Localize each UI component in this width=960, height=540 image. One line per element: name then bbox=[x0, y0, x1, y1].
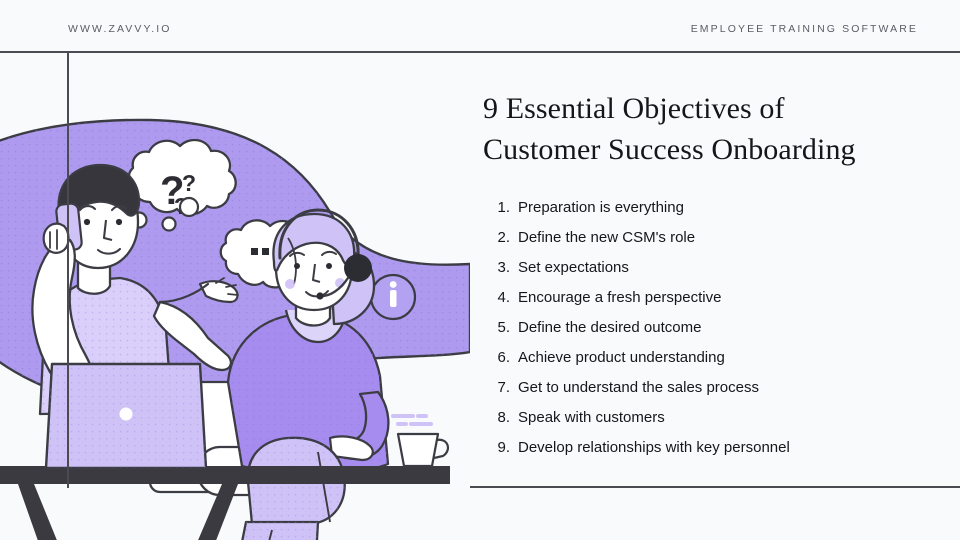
site-url-label: WWW.ZAVVY.IO bbox=[68, 23, 172, 35]
content-column: 9 Essential Objectives of Customer Succe… bbox=[483, 88, 943, 463]
objective-item: 8.Speak with customers bbox=[483, 403, 943, 433]
objective-item: 5.Define the desired outcome bbox=[483, 313, 943, 343]
objective-label: Achieve product understanding bbox=[518, 343, 725, 373]
page-title-line-1: 9 Essential Objectives of bbox=[483, 88, 943, 129]
objective-number: 1. bbox=[483, 193, 510, 223]
objective-number: 3. bbox=[483, 253, 510, 283]
objective-number: 8. bbox=[483, 403, 510, 433]
objective-label: Get to understand the sales process bbox=[518, 373, 759, 403]
objective-label: Develop relationships with key personnel bbox=[518, 433, 790, 463]
category-label: EMPLOYEE TRAINING SOFTWARE bbox=[691, 23, 918, 35]
illustration-svg: ? ? ? bbox=[0, 52, 470, 540]
page-title-line-2: Customer Success Onboarding bbox=[483, 129, 943, 170]
header-divider bbox=[0, 51, 960, 53]
objective-item: 6.Achieve product understanding bbox=[483, 343, 943, 373]
objective-item: 7.Get to understand the sales process bbox=[483, 373, 943, 403]
illustration: ? ? ? bbox=[0, 52, 470, 540]
objective-label: Define the desired outcome bbox=[518, 313, 701, 343]
objective-label: Speak with customers bbox=[518, 403, 665, 433]
laptop bbox=[46, 364, 206, 468]
objective-number: 2. bbox=[483, 223, 510, 253]
objective-item: 1.Preparation is everything bbox=[483, 193, 943, 223]
objective-item: 3.Set expectations bbox=[483, 253, 943, 283]
page-title: 9 Essential Objectives of Customer Succe… bbox=[483, 88, 943, 170]
objective-number: 7. bbox=[483, 373, 510, 403]
info-badge bbox=[371, 275, 415, 319]
slide-header: WWW.ZAVVY.IO EMPLOYEE TRAINING SOFTWARE bbox=[0, 0, 960, 52]
objective-label: Define the new CSM's role bbox=[518, 223, 695, 253]
objective-label: Encourage a fresh perspective bbox=[518, 283, 721, 313]
objective-number: 9. bbox=[483, 433, 510, 463]
objective-label: Preparation is everything bbox=[518, 193, 684, 223]
objective-number: 6. bbox=[483, 343, 510, 373]
objective-number: 4. bbox=[483, 283, 510, 313]
objective-label: Set expectations bbox=[518, 253, 629, 283]
objective-item: 2.Define the new CSM's role bbox=[483, 223, 943, 253]
objective-item: 9.Develop relationships with key personn… bbox=[483, 433, 943, 463]
objective-item: 4.Encourage a fresh perspective bbox=[483, 283, 943, 313]
objective-number: 5. bbox=[483, 313, 510, 343]
vertical-divider bbox=[67, 52, 69, 488]
slide-root: ? ? ? bbox=[0, 0, 960, 540]
objectives-list: 1.Preparation is everything2.Define the … bbox=[483, 193, 943, 463]
